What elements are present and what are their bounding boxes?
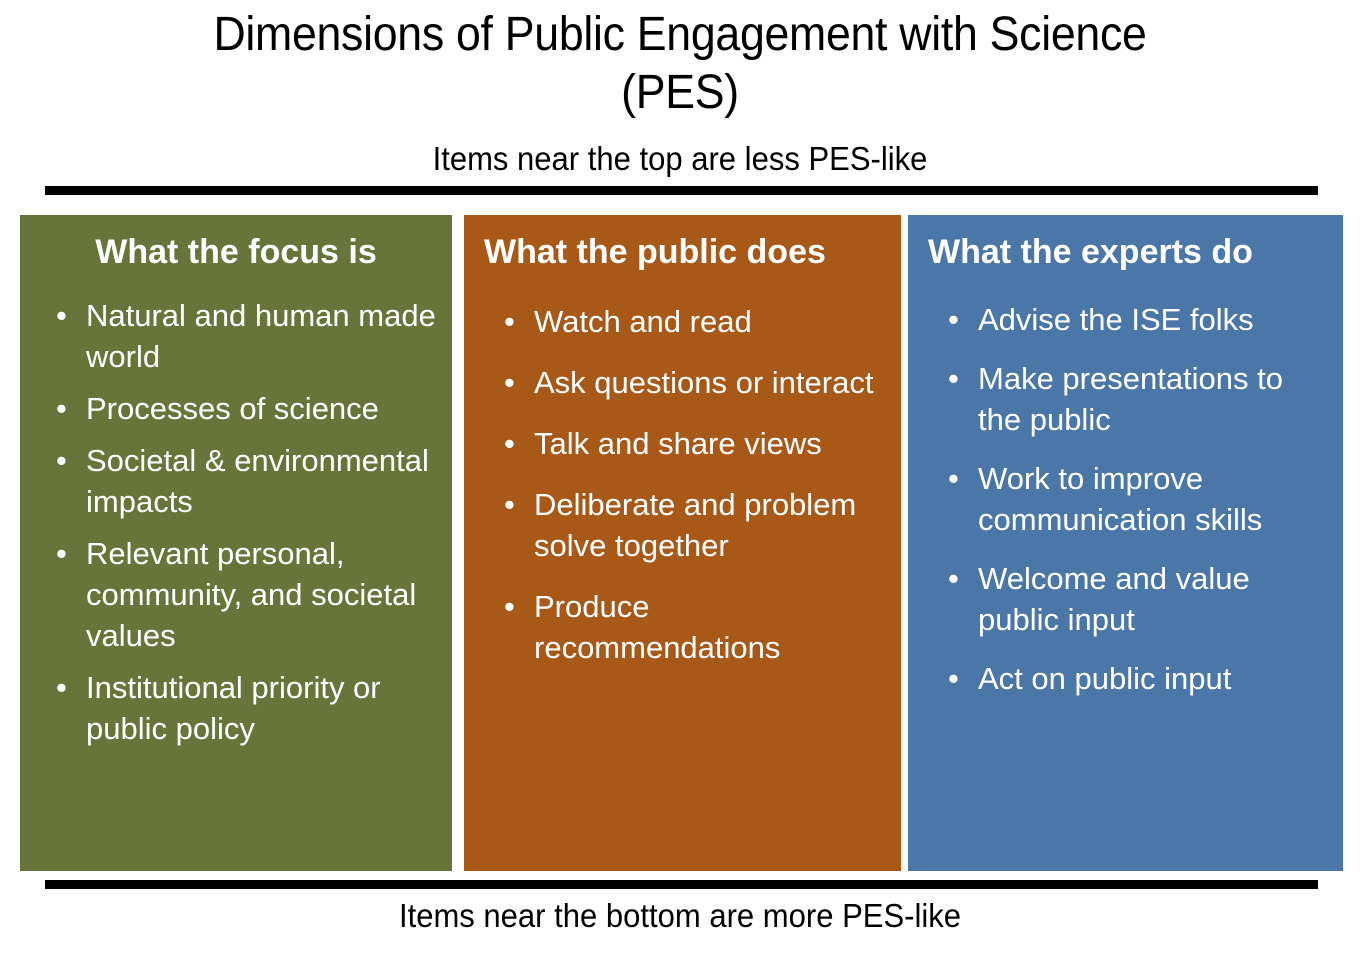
list-item: •Welcome and value public input <box>948 558 1333 640</box>
list-item-label: Produce recommendations <box>534 589 780 665</box>
bullet-icon: • <box>56 388 70 429</box>
list-item: •Relevant personal, community, and socie… <box>56 533 448 656</box>
list-item: •Talk and share views <box>504 423 889 464</box>
bullet-icon: • <box>504 423 518 464</box>
list-item-label: Advise the ISE folks <box>978 302 1254 337</box>
column-header-0: What the focus is <box>20 215 452 273</box>
bullet-icon: • <box>504 586 518 627</box>
list-item-label: Processes of science <box>86 391 379 426</box>
title-block: Dimensions of Public Engagement with Sci… <box>0 6 1360 122</box>
list-item: •Produce recommendations <box>504 586 889 668</box>
list-item-label: Work to improve communication skills <box>978 461 1262 537</box>
list-item: •Advise the ISE folks <box>948 299 1333 340</box>
list-item-label: Societal & environmental impacts <box>86 443 429 519</box>
bullet-list-2: •Advise the ISE folks •Make presentation… <box>908 299 1343 699</box>
list-item: •Act on public input <box>948 658 1333 699</box>
list-item: •Make presentations to the public <box>948 358 1333 440</box>
column-what-the-public-does: What the public does •Watch and read •As… <box>464 215 901 871</box>
bullet-icon: • <box>948 358 962 399</box>
list-item: •Natural and human made world <box>56 295 448 377</box>
page-title: Dimensions of Public Engagement with Sci… <box>48 6 1313 122</box>
bullet-icon: • <box>504 484 518 525</box>
bottom-divider-rule <box>45 880 1318 889</box>
list-item-label: Natural and human made world <box>86 298 436 374</box>
top-divider-rule <box>45 186 1318 195</box>
list-item-label: Welcome and value public input <box>978 561 1250 637</box>
bullet-icon: • <box>948 558 962 599</box>
list-item-label: Relevant personal, community, and societ… <box>86 536 416 653</box>
list-item-label: Watch and read <box>534 304 752 339</box>
column-header-2: What the experts do <box>908 215 1343 273</box>
list-item-label: Deliberate and problem solve together <box>534 487 856 563</box>
list-item: •Watch and read <box>504 301 889 342</box>
list-item: •Ask questions or interact <box>504 362 889 403</box>
bullet-icon: • <box>948 658 962 699</box>
bullet-icon: • <box>56 440 70 481</box>
bullet-list-0: •Natural and human made world •Processes… <box>20 295 452 749</box>
list-item-label: Ask questions or interact <box>534 365 873 400</box>
column-header-1: What the public does <box>464 215 901 273</box>
bullet-icon: • <box>56 667 70 708</box>
bullet-icon: • <box>56 533 70 574</box>
list-item-label: Institutional priority or public policy <box>86 670 381 746</box>
list-item-label: Talk and share views <box>534 426 822 461</box>
list-item: •Work to improve communication skills <box>948 458 1333 540</box>
top-caption: Items near the top are less PES-like <box>41 139 1319 179</box>
list-item-label: Act on public input <box>978 661 1231 696</box>
bullet-list-1: •Watch and read •Ask questions or intera… <box>464 301 901 668</box>
bottom-caption: Items near the bottom are more PES-like <box>41 896 1319 936</box>
list-item: •Deliberate and problem solve together <box>504 484 889 566</box>
list-item: •Societal & environmental impacts <box>56 440 448 522</box>
column-what-the-focus-is: What the focus is •Natural and human mad… <box>20 215 452 871</box>
bullet-icon: • <box>504 301 518 342</box>
list-item: •Institutional priority or public policy <box>56 667 448 749</box>
bullet-icon: • <box>948 299 962 340</box>
column-what-the-experts-do: What the experts do •Advise the ISE folk… <box>908 215 1343 871</box>
bullet-icon: • <box>504 362 518 403</box>
list-item-label: Make presentations to the public <box>978 361 1283 437</box>
list-item: •Processes of science <box>56 388 448 429</box>
bullet-icon: • <box>948 458 962 499</box>
bullet-icon: • <box>56 295 70 336</box>
